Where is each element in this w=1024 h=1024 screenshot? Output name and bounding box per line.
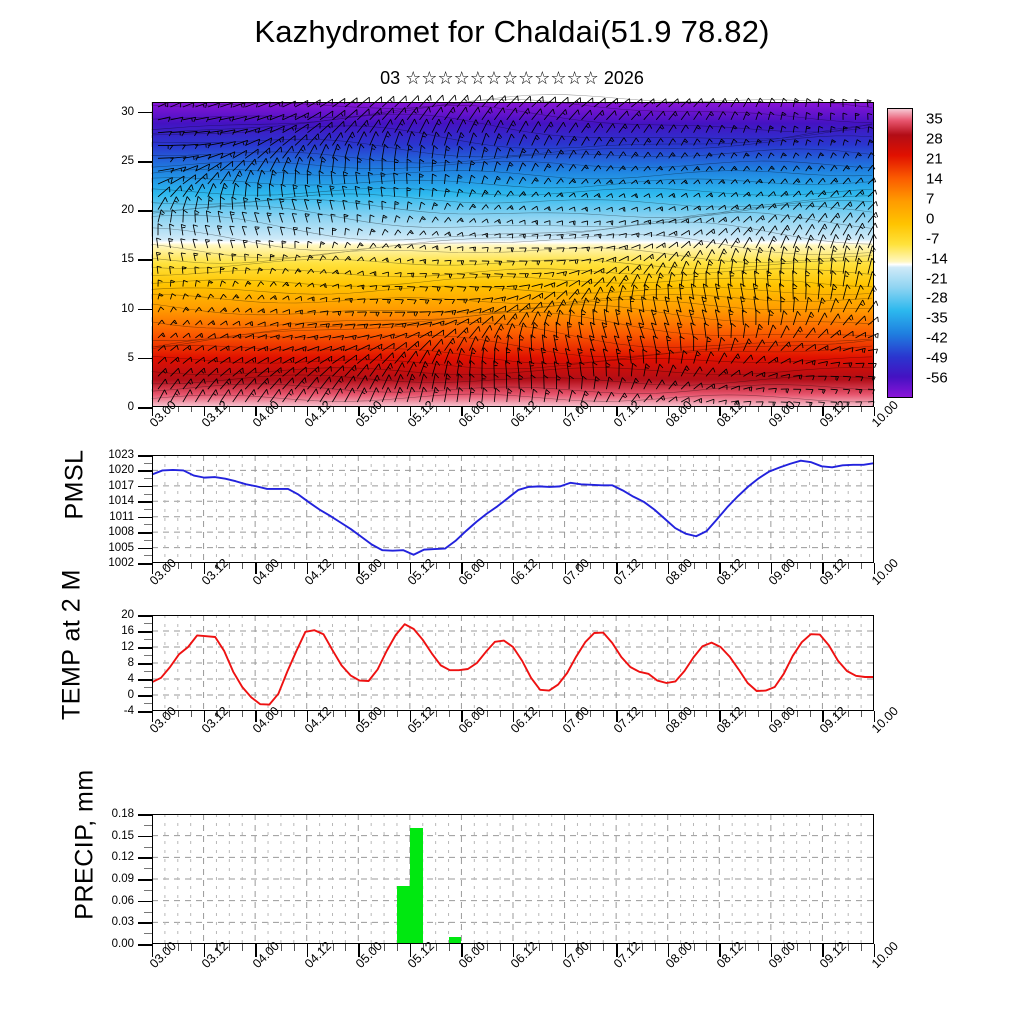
precip-y-tick: [138, 814, 152, 816]
precip-x-minor-tick: [603, 944, 604, 951]
cross-section-y-tick: [138, 309, 152, 311]
pmsl-x-minor-tick: [242, 563, 243, 569]
precip-y-minor-tick: [144, 868, 152, 869]
precip-x-minor-tick: [191, 944, 192, 951]
cross-section-x-minor-tick: [294, 407, 295, 412]
cross-section-x-minor-tick: [552, 407, 553, 412]
pmsl-x-minor-tick: [397, 563, 398, 569]
cross-section-y-tick: [138, 210, 152, 212]
precip-y-minor-tick: [144, 847, 152, 848]
temp-y-tick: [138, 711, 152, 713]
pmsl-y-minor-tick: [144, 494, 152, 495]
temp-x-minor-tick: [397, 711, 398, 717]
temp-plot: [152, 615, 874, 711]
colorbar-tick-label: -56: [926, 370, 948, 387]
cross-section-x-minor-tick: [449, 407, 450, 412]
cross-section-y-tick: [138, 259, 152, 261]
pmsl-y-tick: [138, 501, 152, 503]
pmsl-x-minor-tick: [861, 563, 862, 569]
precip-frame: [152, 814, 874, 944]
precip-y-tick-label: 0.00: [90, 938, 134, 950]
temp-y-tick: [138, 663, 152, 665]
pmsl-y-tick: [138, 532, 152, 534]
colorbar-tick-label: 28: [926, 131, 943, 148]
colorbar-tick-label: -35: [926, 310, 948, 327]
cross-section-frame: [152, 102, 874, 407]
temp-x-minor-tick: [191, 711, 192, 717]
temp-y-tick-label: 0: [90, 689, 134, 701]
temp-y-tick-label: 16: [90, 625, 134, 637]
pmsl-y-tick-label: 1014: [90, 495, 134, 507]
temp-x-minor-tick: [552, 711, 553, 717]
cross-section-y-tick-label: 30: [90, 106, 134, 118]
page-title: Kazhydromet for Chaldai(51.9 78.82): [0, 14, 1024, 50]
temp-y-tick-label: 20: [90, 609, 134, 621]
temp-x-minor-tick: [603, 711, 604, 717]
precip-y-tick: [138, 901, 152, 903]
cross-section-y-tick-label: 10: [90, 303, 134, 315]
temp-y-tick: [138, 679, 152, 681]
precip-x-minor-tick: [242, 944, 243, 951]
temp-y-tick: [138, 631, 152, 633]
precip-y-tick: [138, 879, 152, 881]
precip-y-minor-tick: [144, 933, 152, 934]
cross-section-y-tick-label: 15: [90, 253, 134, 265]
temp-y-minor-tick: [144, 639, 152, 640]
temperature-colorbar: [887, 108, 913, 398]
colorbar-tick-label: -7: [926, 230, 939, 247]
pmsl-y-tick: [138, 563, 152, 565]
colorbar-tick-label: -42: [926, 330, 948, 347]
cross-section-y-tick-label: 5: [90, 352, 134, 364]
colorbar-tick-label: 7: [926, 190, 934, 207]
cross-section-x-minor-tick: [242, 407, 243, 412]
precip-x-minor-tick: [294, 944, 295, 951]
colorbar-tick-label: 0: [926, 210, 934, 227]
precip-y-tick: [138, 857, 152, 859]
pmsl-x-minor-tick: [603, 563, 604, 569]
precip-x-minor-tick: [500, 944, 501, 951]
precip-plot: [152, 814, 874, 944]
temp-y-minor-tick: [144, 623, 152, 624]
cross-section-x-minor-tick: [345, 407, 346, 412]
temp-y-tick: [138, 647, 152, 649]
precip-x-minor-tick: [552, 944, 553, 951]
precip-x-minor-tick: [706, 944, 707, 951]
precip-x-minor-tick: [449, 944, 450, 951]
temp-y-tick: [138, 615, 152, 617]
cross-section-y-tick: [138, 358, 152, 360]
cross-section-x-minor-tick: [861, 407, 862, 412]
temp-y-minor-tick: [144, 671, 152, 672]
precip-x-minor-tick: [810, 944, 811, 951]
precip-y-tick: [138, 836, 152, 838]
precip-y-tick-label: 0.15: [90, 830, 134, 842]
cross-section-x-minor-tick: [397, 407, 398, 412]
pmsl-y-minor-tick: [144, 478, 152, 479]
pmsl-y-tick-label: 1002: [90, 557, 134, 569]
pmsl-y-tick-label: 1023: [90, 449, 134, 461]
pmsl-y-tick: [138, 470, 152, 472]
temp-y-tick: [138, 695, 152, 697]
cross-section-y-tick-label: 25: [90, 155, 134, 167]
temp-x-minor-tick: [655, 711, 656, 717]
pmsl-y-tick: [138, 455, 152, 457]
pmsl-x-minor-tick: [500, 563, 501, 569]
pmsl-y-tick: [138, 517, 152, 519]
pmsl-y-minor-tick: [144, 463, 152, 464]
temp-x-minor-tick: [242, 711, 243, 717]
temp-x-minor-tick: [810, 711, 811, 717]
pmsl-y-tick-label: 1011: [90, 511, 134, 523]
temp-x-minor-tick: [706, 711, 707, 717]
pmsl-y-minor-tick: [144, 509, 152, 510]
pmsl-x-minor-tick: [655, 563, 656, 569]
precip-y-tick: [138, 922, 152, 924]
subtitle-day: 03: [380, 68, 400, 88]
pmsl-y-tick: [138, 548, 152, 550]
cross-section-y-tick-label: 0: [90, 401, 134, 413]
colorbar-tick-label: 14: [926, 171, 943, 188]
cross-section-x-minor-tick: [500, 407, 501, 412]
pmsl-x-minor-tick: [758, 563, 759, 569]
pmsl-y-tick-label: 1020: [90, 464, 134, 476]
precip-x-minor-tick: [397, 944, 398, 951]
cross-section-plot: [152, 102, 874, 407]
precip-x-minor-tick: [655, 944, 656, 951]
temp-x-minor-tick: [500, 711, 501, 717]
colorbar-tick-label: -49: [926, 350, 948, 367]
cross-section-x-minor-tick: [706, 407, 707, 412]
precip-y-minor-tick: [144, 825, 152, 826]
cross-section-y-tick-label: 20: [90, 204, 134, 216]
colorbar-tick-label: -21: [926, 270, 948, 287]
cross-section-x-minor-tick: [191, 407, 192, 412]
precip-x-minor-tick: [758, 944, 759, 951]
cross-section-y-tick: [138, 112, 152, 114]
cross-section-x-minor-tick: [758, 407, 759, 412]
precip-y-tick-label: 0.12: [90, 851, 134, 863]
temp-y-minor-tick: [144, 687, 152, 688]
temp-x-minor-tick: [449, 711, 450, 717]
pmsl-axis-label: PMSL: [61, 445, 90, 525]
page-subtitle: 03 ☆☆☆☆☆☆☆☆☆☆☆☆ 2026: [0, 68, 1024, 89]
cross-section-y-tick: [138, 407, 152, 409]
pmsl-plot: [152, 455, 874, 563]
subtitle-year: 2026: [604, 68, 644, 88]
pmsl-y-tick-label: 1008: [90, 526, 134, 538]
temp-y-minor-tick: [144, 655, 152, 656]
colorbar-tick-label: -28: [926, 290, 948, 307]
colorbar-tick-label: 35: [926, 111, 943, 128]
cross-section-y-tick: [138, 161, 152, 163]
cross-section-x-minor-tick: [603, 407, 604, 412]
temp-y-tick-label: -4: [90, 705, 134, 717]
pmsl-x-minor-tick: [706, 563, 707, 569]
pmsl-y-tick: [138, 486, 152, 488]
temp-x-minor-tick: [861, 711, 862, 717]
pmsl-x-minor-tick: [191, 563, 192, 569]
precip-x-minor-tick: [345, 944, 346, 951]
pmsl-y-tick-label: 1017: [90, 480, 134, 492]
pmsl-x-minor-tick: [345, 563, 346, 569]
pmsl-x-minor-tick: [294, 563, 295, 569]
colorbar-tick-label: 21: [926, 151, 943, 168]
temp-x-minor-tick: [294, 711, 295, 717]
precip-x-minor-tick: [861, 944, 862, 951]
subtitle-month-glyphs: ☆☆☆☆☆☆☆☆☆☆☆☆: [405, 68, 599, 88]
precip-y-tick-label: 0.09: [90, 873, 134, 885]
precip-y-tick-label: 0.03: [90, 916, 134, 928]
temp-frame: [152, 615, 874, 711]
temp-y-tick-label: 4: [90, 673, 134, 685]
precip-y-tick-label: 0.06: [90, 895, 134, 907]
precip-y-tick: [138, 944, 152, 946]
temp-x-minor-tick: [345, 711, 346, 717]
temp-y-minor-tick: [144, 703, 152, 704]
temp-y-tick-label: 12: [90, 641, 134, 653]
temp-y-tick-label: 8: [90, 657, 134, 669]
pmsl-x-minor-tick: [810, 563, 811, 569]
colorbar-tick-label: -14: [926, 250, 948, 267]
precip-y-minor-tick: [144, 890, 152, 891]
pmsl-frame: [152, 455, 874, 563]
precip-y-tick-label: 0.18: [90, 808, 134, 820]
temp-axis-label: TEMP at 2 M: [58, 565, 87, 725]
pmsl-y-minor-tick: [144, 524, 152, 525]
pmsl-x-minor-tick: [552, 563, 553, 569]
cross-section-x-minor-tick: [655, 407, 656, 412]
pmsl-y-minor-tick: [144, 555, 152, 556]
pmsl-y-minor-tick: [144, 540, 152, 541]
precip-y-minor-tick: [144, 912, 152, 913]
pmsl-x-minor-tick: [449, 563, 450, 569]
pmsl-y-tick-label: 1005: [90, 542, 134, 554]
temp-x-minor-tick: [758, 711, 759, 717]
cross-section-x-minor-tick: [810, 407, 811, 412]
precip-axis-label: PRECIP, mm: [71, 750, 100, 940]
